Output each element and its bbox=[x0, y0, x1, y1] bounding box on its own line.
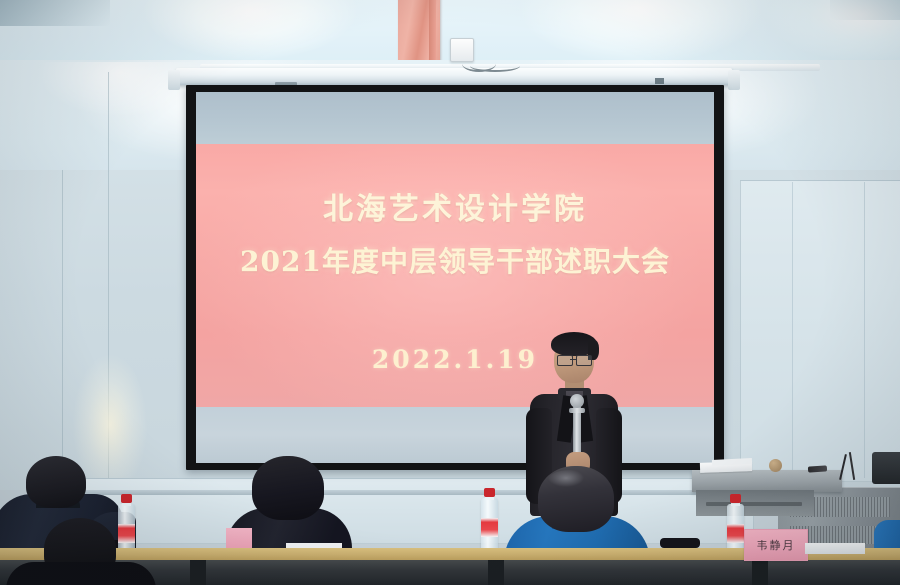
water-bottle-center-label bbox=[481, 518, 498, 537]
whiteboard-marker-ledge bbox=[52, 490, 742, 495]
whiteboard-right bbox=[740, 180, 900, 482]
name-card-paper-right bbox=[805, 543, 865, 554]
eyeglasses-lens-right-icon bbox=[576, 355, 592, 366]
whiteboard-seam-right-2 bbox=[864, 182, 865, 478]
attendee-blue-hair-highlight bbox=[548, 470, 592, 490]
signal-cable bbox=[470, 60, 520, 72]
attendee-center-head bbox=[252, 456, 324, 520]
desk-divider-3 bbox=[752, 560, 768, 585]
whiteboard-seam-right-1 bbox=[792, 182, 793, 478]
ceiling-corner-shadow-left bbox=[0, 0, 110, 26]
slide-top-band bbox=[196, 92, 714, 144]
screen-roller-housing bbox=[176, 68, 732, 85]
water-bottle-right-label bbox=[727, 524, 744, 543]
photo-scene: 北海艺术设计学院 2021年度中层领导干部述职大会 2022.1.19 bbox=[0, 0, 900, 585]
microphone-head-icon bbox=[570, 394, 584, 408]
ceiling-corner-shadow-right bbox=[830, 0, 900, 20]
water-bottle-right-cap bbox=[730, 494, 741, 503]
slide-subtitle: 2021年度中层领导干部述职大会 bbox=[196, 240, 714, 280]
eyeglasses-bridge-icon bbox=[570, 359, 577, 360]
desk-divider-2 bbox=[488, 560, 504, 585]
desk-divider-1 bbox=[190, 560, 206, 585]
lectern-shelf bbox=[692, 470, 842, 492]
water-bottle-center-cap bbox=[484, 488, 495, 497]
roller-end-cap-right bbox=[728, 70, 740, 90]
slide-title: 北海艺术设计学院 bbox=[196, 184, 714, 228]
projection-screen-surface: 北海艺术设计学院 2021年度中层领导干部述职大会 2022.1.19 bbox=[196, 92, 714, 463]
water-bottle-left-label bbox=[118, 524, 135, 543]
attendee-foreground-torso bbox=[6, 562, 156, 585]
attendee-left-head bbox=[26, 456, 86, 508]
name-card-text: 韦静月 bbox=[757, 537, 796, 553]
water-bottle-left-cap bbox=[121, 494, 132, 503]
whiteboard-lower bbox=[52, 478, 754, 544]
roller-adjust-knob[interactable] bbox=[655, 78, 664, 84]
slide-date: 2022.1.19 bbox=[196, 345, 714, 374]
slide-bottom-band bbox=[196, 407, 714, 463]
small-round-object bbox=[769, 459, 782, 472]
desk-object-center bbox=[660, 538, 700, 548]
lectern-drawer-slot[interactable] bbox=[706, 502, 802, 506]
microphone-handle bbox=[573, 406, 581, 456]
roller-end-cap-left bbox=[168, 70, 180, 90]
microphone-ring bbox=[569, 408, 585, 413]
eyeglasses-lens-left-icon bbox=[557, 355, 573, 366]
name-card: 韦静月 bbox=[744, 529, 808, 561]
monitor-edge bbox=[872, 452, 900, 484]
